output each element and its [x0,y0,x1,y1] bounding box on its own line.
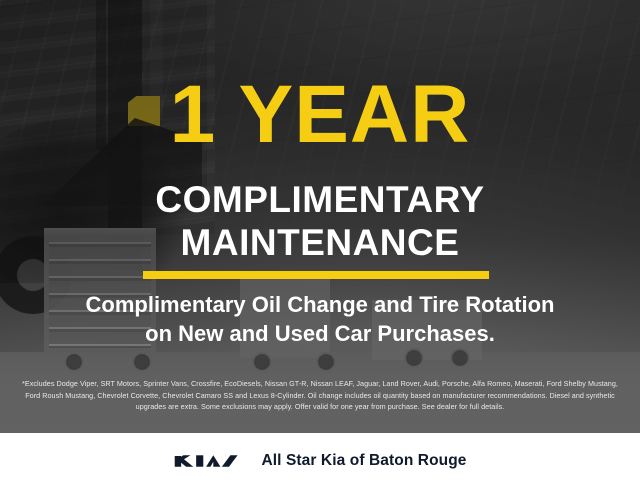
dealer-name: All Star Kia of Baton Rouge [261,452,466,470]
offer-description-line-1: Complimentary Oil Change and Tire Rotati… [20,292,620,318]
dealer-footer: All Star Kia of Baton Rouge [0,433,640,488]
advertisement-banner[interactable]: 1 YEAR COMPLIMENTARY MAINTENANCE Complim… [0,0,640,488]
hero-panel: 1 YEAR COMPLIMENTARY MAINTENANCE Complim… [0,0,640,433]
offer-description-line-2: on New and Used Car Purchases. [20,321,620,347]
disclaimer-text: *Excludes Dodge Viper, SRT Motors, Sprin… [16,378,624,413]
yellow-divider-bar [143,271,489,279]
headline-complimentary: COMPLIMENTARY [0,181,640,218]
headline-maintenance: MAINTENANCE [0,224,640,261]
hero-copy-group: 1 YEAR COMPLIMENTARY MAINTENANCE Complim… [0,0,640,433]
headline-year: 1 YEAR [0,74,640,156]
kia-logo[interactable] [173,451,245,471]
